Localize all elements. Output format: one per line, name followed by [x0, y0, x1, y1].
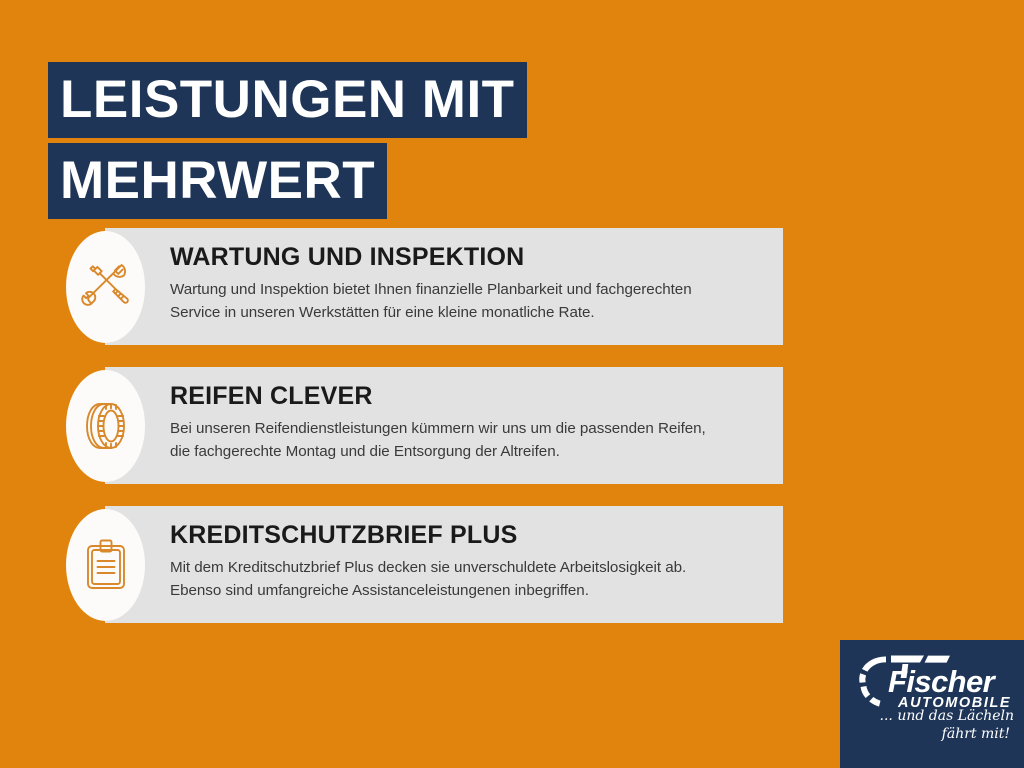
service-card-text: WARTUNG UND INSPEKTION Wartung und Inspe…	[170, 244, 770, 324]
page-title-line-1: LEISTUNGEN MIT	[48, 62, 527, 138]
service-card-body: Bei unseren Reifendienstleistungen kümme…	[170, 418, 770, 463]
tire-icon	[66, 370, 145, 482]
service-card-title: KREDITSCHUTZBRIEF PLUS	[170, 522, 770, 548]
company-logo: Fischer AUTOMOBILE ... und das Lächeln f…	[840, 640, 1024, 768]
service-card: REIFEN CLEVER Bei unseren Reifendienstle…	[0, 367, 1024, 484]
service-card-body: Wartung und Inspektion bietet Ihnen fina…	[170, 279, 770, 324]
service-card-title: REIFEN CLEVER	[170, 383, 770, 409]
service-card-body: Mit dem Kreditschutzbrief Plus decken si…	[170, 557, 770, 602]
service-card: KREDITSCHUTZBRIEF PLUS Mit dem Kreditsch…	[0, 506, 1024, 623]
service-card-body-line: die fachgerechte Montag und die Entsorgu…	[170, 441, 770, 464]
service-card-list: WARTUNG UND INSPEKTION Wartung und Inspe…	[0, 228, 1024, 645]
wrench-screwdriver-icon	[66, 231, 145, 343]
logo-tagline: ... und das Lächeln fährt mit!	[862, 708, 1014, 743]
service-card-title: WARTUNG UND INSPEKTION	[170, 244, 770, 270]
page-title: LEISTUNGEN MIT MEHRWERT	[48, 62, 527, 219]
service-card-body-line: Bei unseren Reifendienstleistungen kümme…	[170, 418, 770, 441]
service-card-body-line: Wartung und Inspektion bietet Ihnen fina…	[170, 279, 770, 302]
service-card-body-line: Service in unseren Werkstätten für eine …	[170, 302, 770, 325]
service-card: WARTUNG UND INSPEKTION Wartung und Inspe…	[0, 228, 1024, 345]
service-card-body-line: Mit dem Kreditschutzbrief Plus decken si…	[170, 557, 770, 580]
page-title-line-2: MEHRWERT	[48, 143, 387, 219]
service-card-text: KREDITSCHUTZBRIEF PLUS Mit dem Kreditsch…	[170, 522, 770, 602]
logo-tagline-line-1: ... und das Lächeln	[880, 708, 1014, 724]
clipboard-icon	[66, 509, 145, 621]
fischer-automobile-logo-mark: Fischer AUTOMOBILE	[850, 648, 1020, 714]
service-card-body-line: Ebenso sind umfangreiche Assistanceleist…	[170, 580, 770, 603]
logo-brand-text: Fischer	[888, 664, 997, 699]
service-card-text: REIFEN CLEVER Bei unseren Reifendienstle…	[170, 383, 770, 463]
logo-tagline-line-2: fährt mit!	[862, 726, 1014, 744]
